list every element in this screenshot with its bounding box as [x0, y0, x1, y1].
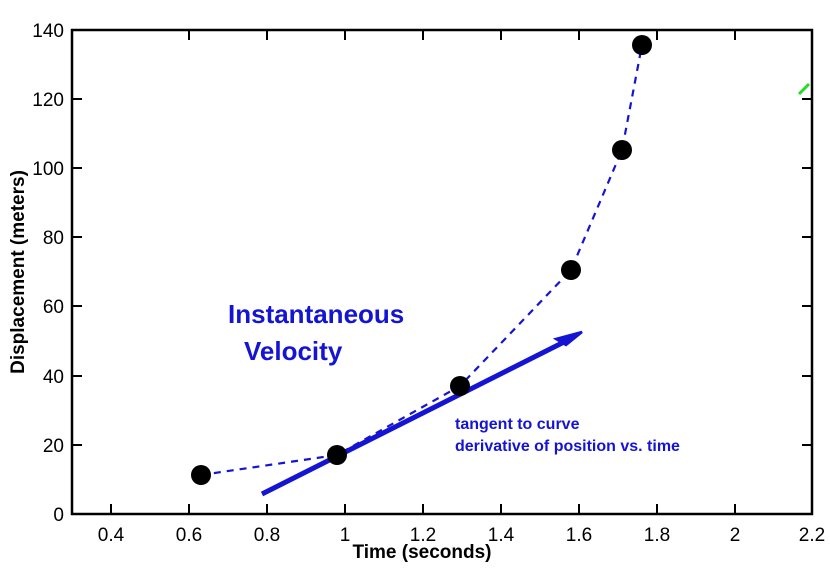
chart-page: 0.4 0.6 0.8 1 1.2 1.4 1.6 1.8 2 2.2 [0, 0, 830, 572]
y-tick-label-7: 140 [32, 21, 64, 42]
y-tick-label-1: 20 [43, 436, 64, 457]
x-tick-label-6: 1.6 [566, 525, 592, 546]
x-tick-label-2: 0.8 [254, 525, 280, 546]
x-tick-label-5: 1.4 [488, 525, 515, 546]
y-tick-label-6: 120 [32, 90, 64, 111]
data-point [191, 465, 211, 485]
x-tick-label-9: 2.2 [799, 525, 825, 546]
instantaneous-velocity-line1: Instantaneous [228, 299, 404, 329]
y-tick-label-4: 80 [43, 228, 64, 249]
tangent-caption-line2: derivative of position vs. time [455, 438, 680, 455]
x-tick-label-1: 0.6 [176, 525, 202, 546]
data-point [450, 376, 470, 396]
data-point [612, 140, 632, 160]
y-tick-label-2: 40 [43, 367, 64, 388]
y-tick-label-3: 60 [43, 297, 64, 318]
y-axis-title: Displacement (meters) [8, 170, 29, 374]
instantaneous-velocity-line2: Velocity [244, 336, 343, 366]
data-point [561, 260, 581, 280]
x-tick-label-7: 1.8 [644, 525, 670, 546]
x-axis-title: Time (seconds) [352, 542, 491, 563]
tangent-caption-line1: tangent to curve [455, 416, 580, 433]
x-tick-label-8: 2 [730, 525, 741, 546]
data-point [632, 35, 652, 55]
y-tick-label-5: 100 [32, 159, 64, 180]
displacement-vs-time-chart: 0.4 0.6 0.8 1 1.2 1.4 1.6 1.8 2 2.2 [0, 0, 830, 572]
x-tick-label-3: 1 [340, 525, 351, 546]
y-tick-label-0: 0 [53, 505, 64, 526]
data-point [327, 445, 347, 465]
x-tick-label-0: 0.4 [98, 525, 125, 546]
plot-area-background [72, 30, 812, 514]
